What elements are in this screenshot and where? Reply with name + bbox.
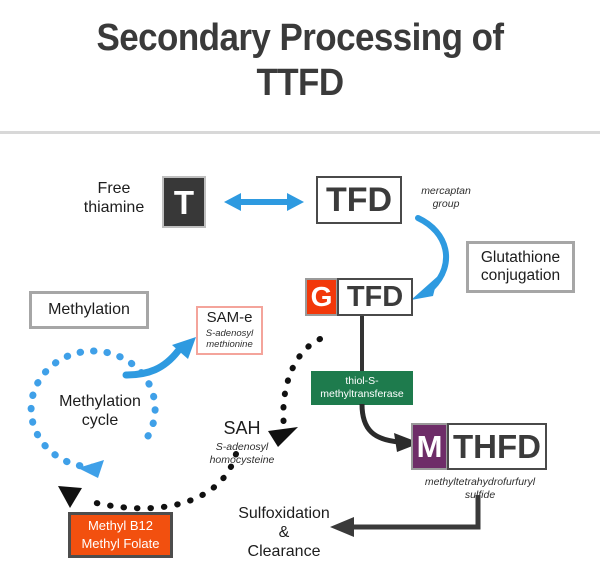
- glutathione-label-line-1: Glutathione: [481, 249, 560, 267]
- sam-e-subtitle-line-2: methionine: [206, 339, 252, 350]
- methylation-cycle-line-1: Methylation: [45, 393, 155, 412]
- methyl-tile[interactable]: M: [411, 423, 448, 470]
- blue-cycle-to-sam-arrow-icon: [120, 335, 210, 383]
- thfd-tile-label: THFD: [453, 430, 541, 463]
- page-title-line-2: TTFD: [24, 61, 576, 106]
- free-thiamine-label-line-2: thiamine: [74, 199, 154, 218]
- g-tfd-tile[interactable]: TFD: [337, 278, 413, 316]
- enzyme-label-line-1: thiol-S-: [345, 375, 378, 388]
- thfd-caption-line-1: methyltetrahydrofurfuryl: [400, 476, 560, 489]
- methyl-donors-line-1: Methyl B12: [88, 517, 153, 535]
- tfd-tile-label: TFD: [326, 183, 392, 217]
- methyl-tile-label: M: [417, 431, 443, 462]
- sam-e-subtitle-line-1: S-adenosyl: [206, 328, 254, 339]
- methyl-donors-line-2: Methyl Folate: [81, 535, 159, 553]
- thiamine-tile-label: T: [174, 186, 194, 219]
- methylation-cycle-label: Methylation cycle: [45, 393, 155, 431]
- thiamine-tile[interactable]: T: [162, 176, 206, 228]
- glutathione-conjugation-box[interactable]: Glutathione conjugation: [466, 241, 575, 293]
- black-left-arrow-icon: [330, 495, 490, 541]
- methylation-box[interactable]: Methylation: [29, 291, 149, 329]
- methyl-donors-box[interactable]: Methyl B12 Methyl Folate: [68, 512, 173, 558]
- methylation-cycle-line-2: cycle: [45, 412, 155, 431]
- mercaptan-caption-line-1: mercaptan: [406, 185, 486, 198]
- methylation-box-label: Methylation: [48, 301, 130, 320]
- diagram-canvas: Secondary Processing of TTFD Free thiami…: [0, 0, 600, 583]
- gtfd-to-enzyme-connector: [360, 316, 364, 372]
- sulfoxidation-line-3: Clearance: [222, 543, 346, 562]
- glutathione-tile[interactable]: G: [305, 278, 338, 316]
- page-title: Secondary Processing of TTFD: [24, 16, 576, 106]
- mercaptan-caption-line-2: group: [406, 198, 486, 211]
- title-divider: [0, 131, 600, 134]
- free-thiamine-label-line-1: Free: [74, 180, 154, 199]
- page-title-line-1: Secondary Processing of: [24, 16, 576, 61]
- glutathione-tile-label: G: [311, 283, 333, 311]
- free-thiamine-label: Free thiamine: [74, 180, 154, 218]
- tfd-tile[interactable]: TFD: [316, 176, 402, 224]
- double-headed-arrow-icon: [224, 186, 304, 218]
- glutathione-label-line-2: conjugation: [481, 267, 560, 285]
- sam-e-title: SAM-e: [207, 310, 253, 327]
- mercaptan-group-caption: mercaptan group: [406, 185, 486, 210]
- thfd-tile[interactable]: THFD: [447, 423, 547, 470]
- g-tfd-tile-label: TFD: [347, 283, 403, 312]
